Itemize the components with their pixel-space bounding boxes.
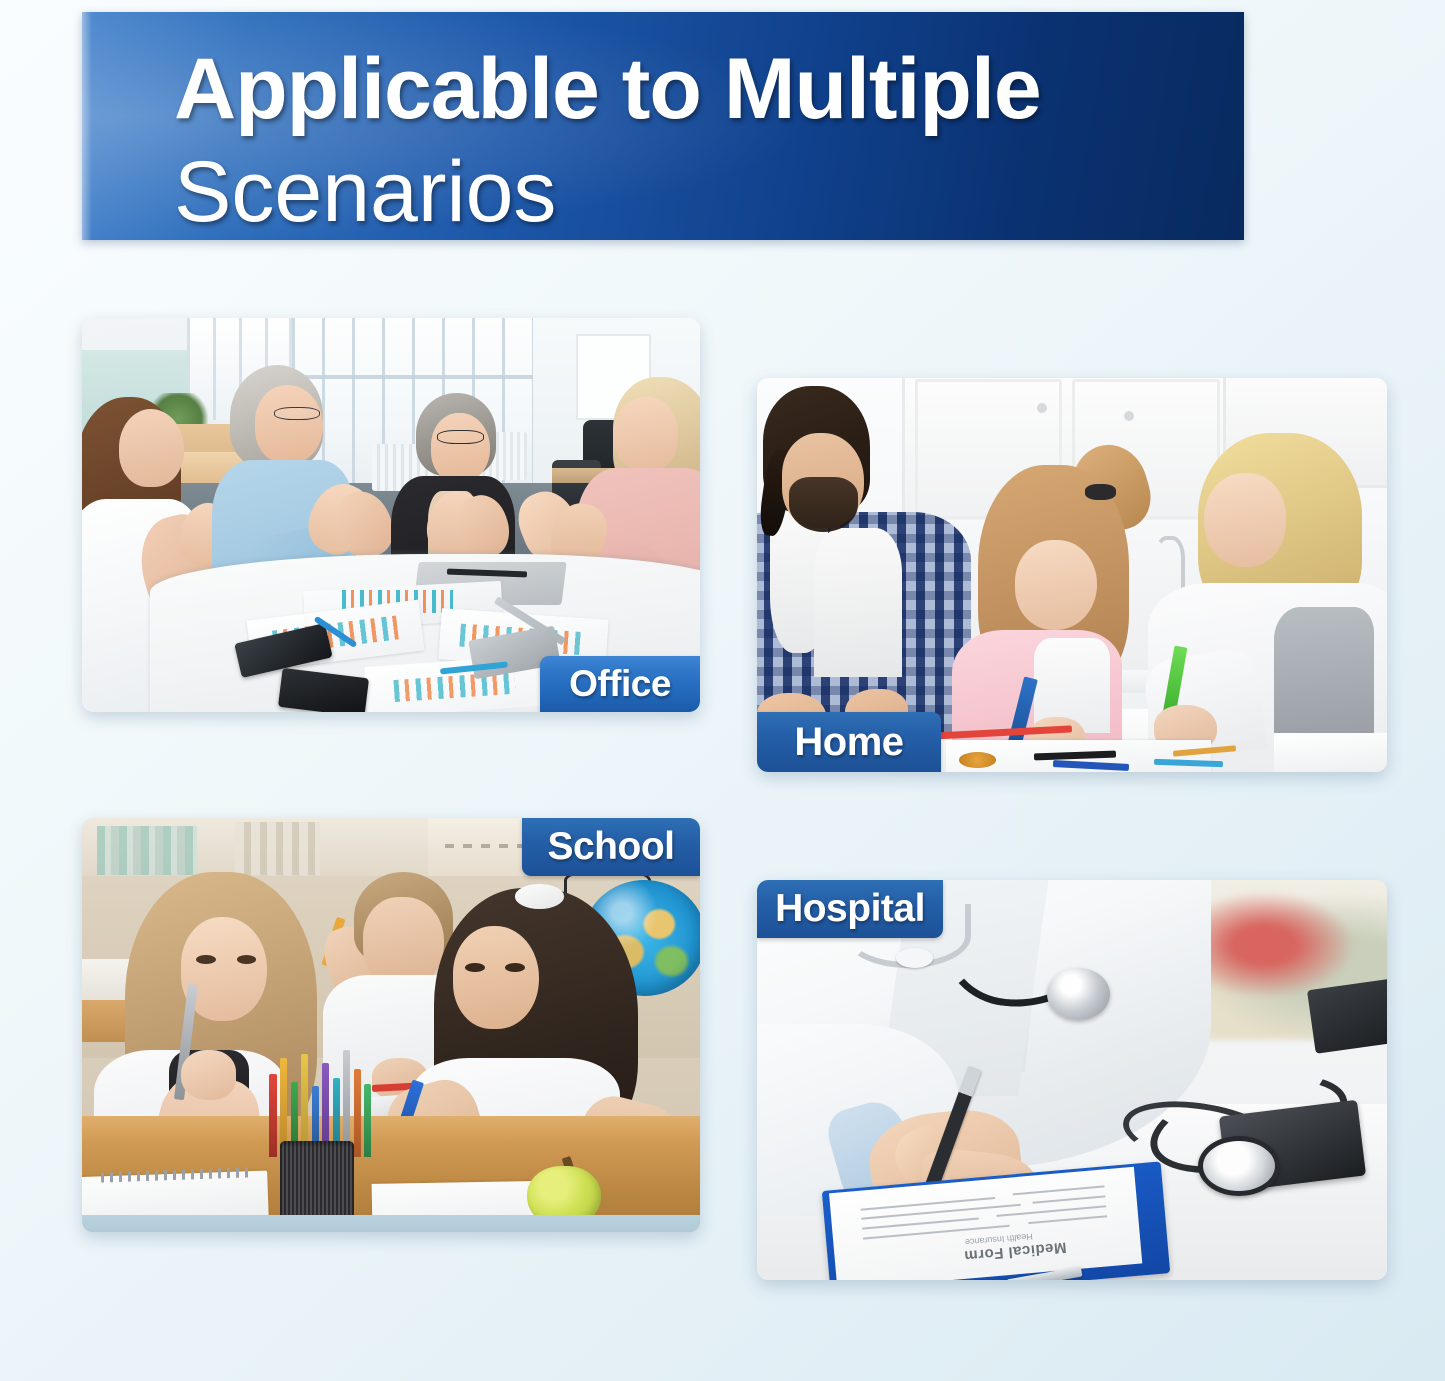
page-title-line-1: Applicable to Multiple: [174, 41, 1041, 137]
scenario-tag-office: Office: [540, 656, 700, 712]
scenario-tag-hospital: Hospital: [757, 880, 943, 938]
scenario-card-school[interactable]: School: [82, 818, 700, 1232]
scenario-card-home[interactable]: Home: [757, 378, 1387, 772]
page-title-line-2: Scenarios: [174, 141, 1174, 244]
scenario-card-office[interactable]: Office: [82, 318, 700, 712]
scenario-card-hospital[interactable]: Health Insurance Medical Form Hospital: [757, 880, 1387, 1280]
page-title: Applicable to Multiple Scenarios: [174, 38, 1174, 244]
scenario-tag-home: Home: [757, 712, 941, 772]
hospital-photo: Health Insurance Medical Form: [757, 880, 1387, 1280]
scenario-tag-school: School: [522, 818, 700, 876]
office-photo: [82, 318, 700, 712]
school-photo: [82, 818, 700, 1232]
header-banner: Applicable to Multiple Scenarios: [82, 12, 1244, 240]
